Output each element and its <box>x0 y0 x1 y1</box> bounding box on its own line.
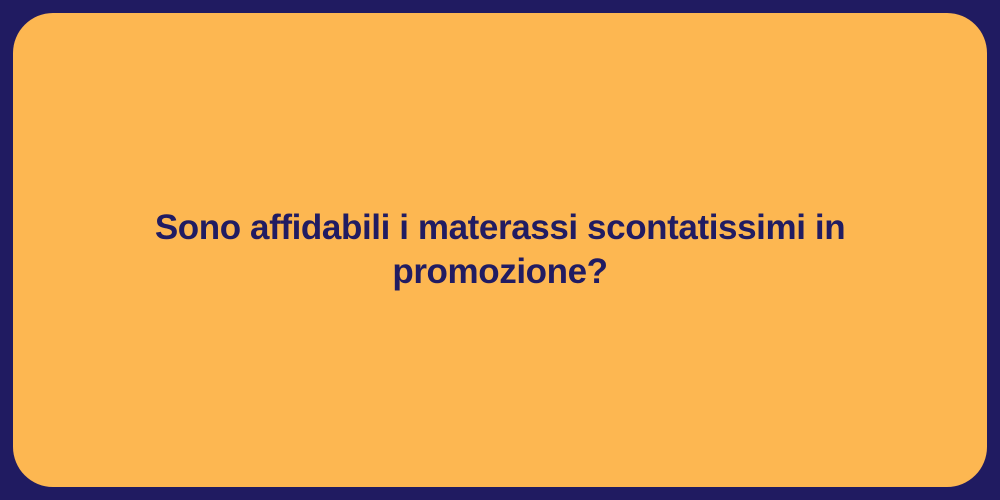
faq-card-frame: Sono affidabili i materassi scontatissim… <box>0 0 1000 500</box>
faq-card-panel: Sono affidabili i materassi scontatissim… <box>13 13 987 487</box>
faq-question-heading: Sono affidabili i materassi scontatissim… <box>50 206 950 294</box>
